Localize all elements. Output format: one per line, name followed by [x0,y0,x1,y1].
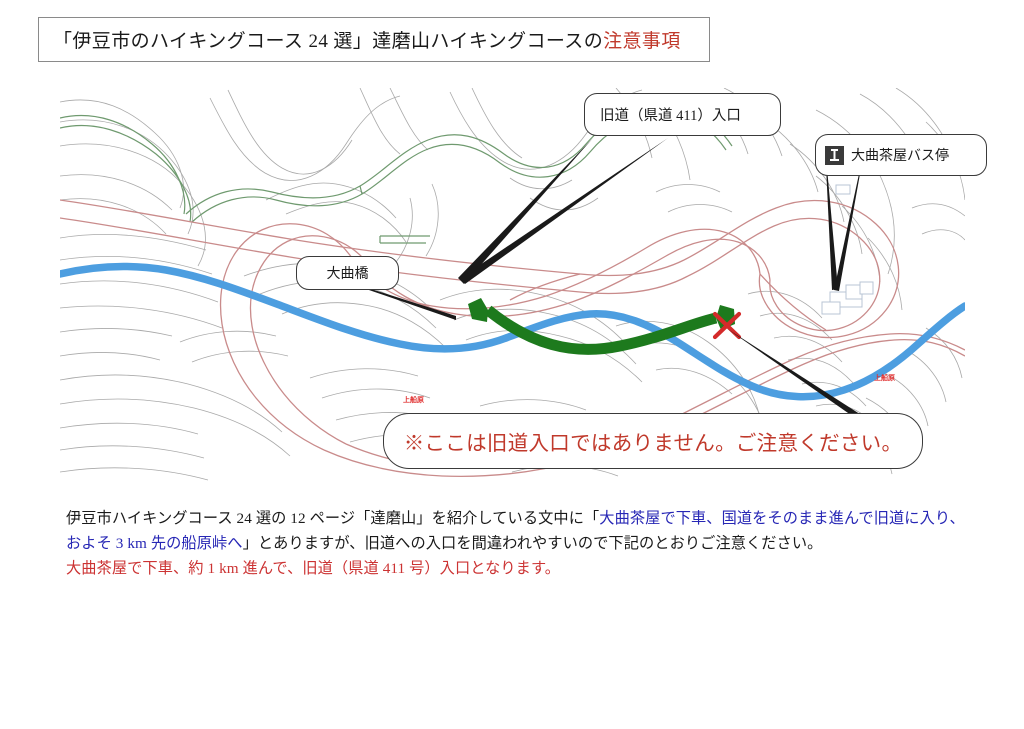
leader-old-road-left [458,138,593,284]
body-text: 伊豆市ハイキングコース 24 選の 12 ページ「達磨山」を紹介している文中に「… [66,506,966,581]
svg-text:上船原: 上船原 [403,395,424,404]
place-label-kamifunabara-left: 上船原 [403,395,424,404]
callout-old-road-label: 旧道（県道 411）入口 [600,104,741,125]
body-line2-plain: 」とありますが、旧道への入口を間違われやすいので下記のとおりご注意ください。 [243,535,823,552]
body-line2-quote: およそ 3 km 先の船原峠へ [66,535,243,552]
callout-bus-stop: 大曲茶屋バス停 [815,134,987,176]
page-title-main: 「伊豆市のハイキングコース 24 選」達磨山ハイキングコースの [53,31,603,52]
callout-warning: ※ここは旧道入口ではありません。ご注意ください。 [383,413,923,469]
svg-text:上船原: 上船原 [874,373,895,382]
callout-old-road-entrance: 旧道（県道 411）入口 [584,93,781,136]
place-label-kamifunabara-right: 上船原 [874,373,895,382]
body-line1-quote: 大曲茶屋で下車、国道をそのまま進んで旧道に入り、 [599,510,965,527]
body-line1-plain: 伊豆市ハイキングコース 24 選の 12 ページ「達磨山」を紹介している文中に「 [66,510,599,527]
callout-bus-stop-label: 大曲茶屋バス停 [851,145,949,165]
bus-stop-icon [825,146,844,165]
page-title: 「伊豆市のハイキングコース 24 選」達磨山ハイキングコースの注意事項 [53,26,681,53]
callout-warning-label: ※ここは旧道入口ではありません。ご注意ください。 [404,426,903,456]
body-note-red: 大曲茶屋で下車、約 1 km 進んで、旧道（県道 411 号）入口となります。 [66,556,966,581]
body-paragraph: 伊豆市ハイキングコース 24 選の 12 ページ「達磨山」を紹介している文中に「… [66,506,966,556]
callout-bridge: 大曲橋 [296,256,399,290]
leader-old-road-right [462,138,668,284]
callout-bridge-label: 大曲橋 [327,263,369,283]
page-title-accent: 注意事項 [603,31,681,52]
title-box: 「伊豆市のハイキングコース 24 選」達磨山ハイキングコースの注意事項 [38,17,710,62]
